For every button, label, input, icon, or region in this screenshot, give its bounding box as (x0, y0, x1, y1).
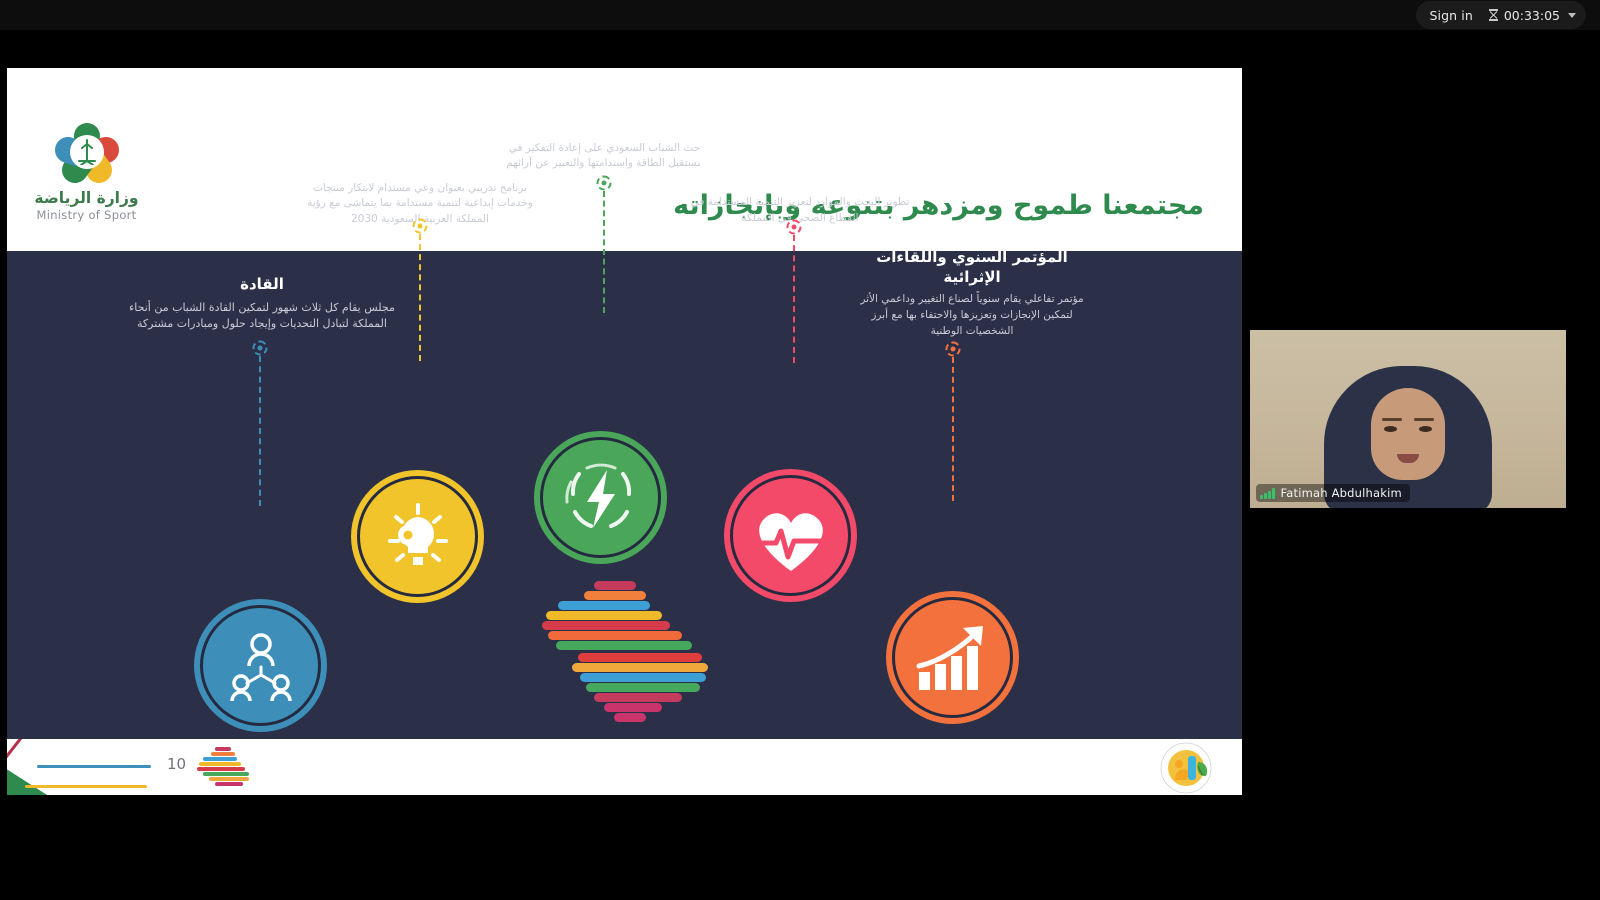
system-topbar: Sign in 00:33:05 (0, 0, 1600, 30)
bubble-health-sector[interactable] (724, 469, 857, 602)
participant-nametag: Fatimah Abdulhakim (1256, 484, 1410, 502)
slide: وزارة الرياضة Ministry of Sport مجتمعنا … (7, 68, 1242, 795)
green-riyadh-circular-logo (1160, 742, 1212, 794)
bubble-leaders[interactable] (194, 599, 327, 732)
item-health-sector: مبادرة تنمية القطاع الصحي المستدام تطوير… (675, 151, 925, 227)
item-annual-conference-desc: مؤتمر تفاعلي يقام سنوياً لصناع التغيير و… (852, 292, 1092, 339)
slide-body: القادة مجلس يقام كل ثلاث شهور لتمكين الق… (7, 251, 1242, 739)
sign-in-button[interactable]: Sign in (1430, 8, 1473, 23)
footer-blue-line (37, 765, 142, 768)
item-energy-voice-title: صوت الطاقة (497, 116, 712, 136)
slide-footer: 10 (7, 739, 1242, 795)
app-window: Sign in 00:33:05 (0, 0, 1600, 900)
stem-annual-conference (890, 349, 1016, 501)
slide-page-number: 10 (167, 755, 186, 773)
audio-bars-icon (1260, 488, 1275, 499)
ministry-logo-mark (55, 123, 119, 183)
stem-sustainable-awareness (357, 226, 483, 361)
chevron-down-icon[interactable] (1568, 13, 1576, 18)
session-timer[interactable]: 00:33:05 (1489, 8, 1576, 23)
topbar-controls: Sign in 00:33:05 (1416, 1, 1586, 29)
face-shape (1371, 388, 1445, 480)
item-annual-conference: المؤتمر السنوي واللقاءات الإثرائية مؤتمر… (852, 248, 1092, 339)
stem-leaders (197, 348, 323, 506)
presentation-stage[interactable]: وزارة الرياضة Ministry of Sport مجتمعنا … (7, 33, 1242, 828)
footer-yellow-line (25, 785, 147, 788)
bubble-sustainable-awareness[interactable] (351, 470, 484, 603)
timer-value: 00:33:05 (1504, 8, 1560, 23)
saudi-map-stripes (532, 581, 712, 721)
ministry-of-sport-logo: وزارة الرياضة Ministry of Sport (29, 123, 144, 222)
footer-blue-dash (135, 765, 151, 768)
bubble-energy-voice[interactable] (534, 431, 667, 564)
hourglass-icon (1489, 9, 1498, 21)
ministry-logo-arabic: وزارة الرياضة (29, 189, 144, 207)
bubble-annual-conference[interactable] (886, 591, 1019, 724)
ministry-logo-english: Ministry of Sport (29, 208, 144, 222)
stem-health-sector (731, 227, 857, 363)
item-health-sector-title: مبادرة تنمية القطاع الصحي المستدام (675, 151, 925, 190)
participant-video-tile[interactable]: Fatimah Abdulhakim (1250, 330, 1566, 508)
stem-energy-voice (541, 183, 667, 313)
item-annual-conference-title: المؤتمر السنوي واللقاءات الإثرائية (852, 248, 1092, 287)
footer-saudi-map (195, 747, 253, 789)
participant-name: Fatimah Abdulhakim (1281, 486, 1402, 500)
